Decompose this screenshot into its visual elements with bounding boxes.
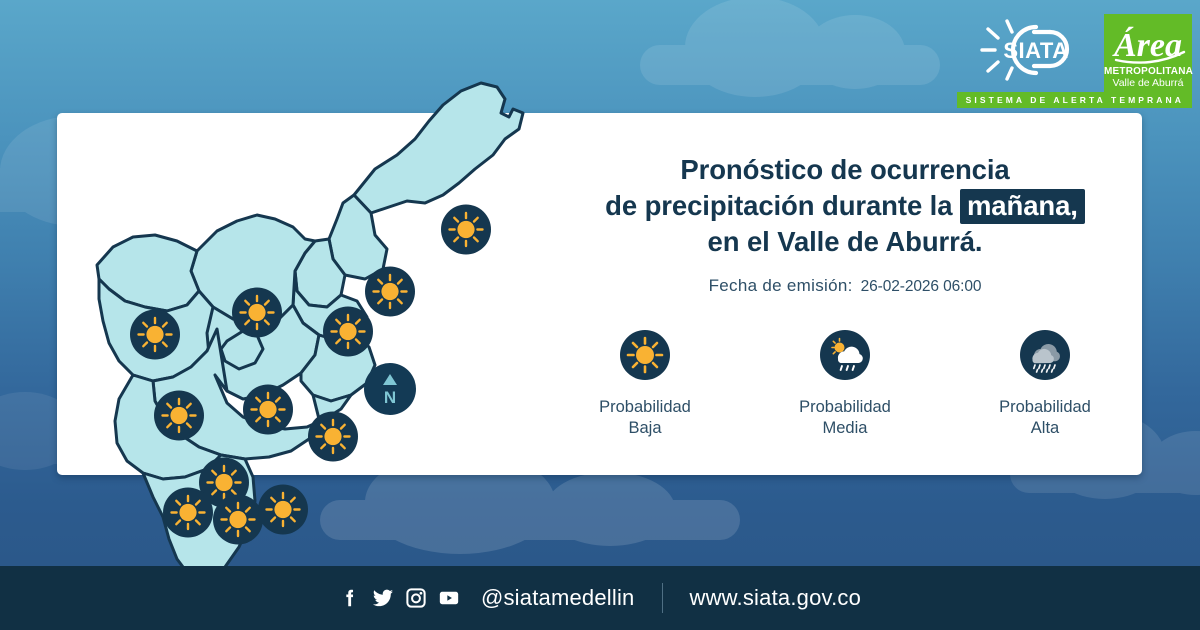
svg-text:N: N bbox=[384, 388, 396, 406]
emission-value: 26-02-2026 06:00 bbox=[861, 278, 982, 296]
legend-label-line1: Probabilidad bbox=[599, 398, 691, 416]
legend-label-line1: Probabilidad bbox=[799, 398, 891, 416]
footer-bar: @siatamedellin www.siata.gov.co bbox=[0, 566, 1200, 630]
sun-icon bbox=[130, 310, 180, 360]
map-marker-san-pedro bbox=[232, 288, 282, 343]
map-marker-envigado bbox=[258, 485, 308, 540]
sun-icon bbox=[154, 391, 204, 441]
sun-cloud-rain-icon bbox=[820, 330, 870, 380]
map-marker-la-estrella bbox=[163, 488, 213, 543]
title-line-2-text: de precipitación durante la bbox=[605, 190, 960, 221]
legend-label: Probabilidad Baja bbox=[563, 397, 728, 439]
instagram-icon[interactable] bbox=[405, 587, 427, 609]
map-marker-copacabana bbox=[323, 307, 373, 362]
infographic-canvas: SIATA Área METROPOLITANA Valle de Aburrá… bbox=[0, 0, 1200, 630]
title-line-3: en el Valle de Aburrá. bbox=[545, 224, 1145, 260]
youtube-icon[interactable] bbox=[437, 587, 461, 609]
sun-icon bbox=[308, 412, 358, 462]
sun-icon bbox=[620, 330, 670, 380]
period-highlight: mañana, bbox=[960, 189, 1085, 224]
map-marker-sabaneta bbox=[213, 495, 263, 550]
sun-icon bbox=[163, 488, 213, 538]
twitter-icon[interactable] bbox=[371, 587, 395, 609]
footer-divider bbox=[662, 583, 663, 613]
map-region: N bbox=[57, 113, 527, 575]
legend-item-media: Probabilidad Media bbox=[763, 330, 928, 439]
sun-icon bbox=[213, 495, 263, 545]
north-arrow-icon: N bbox=[375, 372, 405, 406]
map-marker-medellin-centro bbox=[308, 412, 358, 467]
svg-text:SIATA: SIATA bbox=[1003, 38, 1068, 63]
legend-item-alta: Probabilidad Alta bbox=[963, 330, 1128, 439]
sun-icon bbox=[258, 485, 308, 535]
area-sub-line2: Valle de Aburrá bbox=[1104, 78, 1192, 89]
map-marker-barbosa bbox=[441, 205, 491, 260]
area-wordmark-icon: Área bbox=[1104, 18, 1192, 68]
emission-label: Fecha de emisión: bbox=[709, 276, 853, 296]
siata-logo-icon: SIATA bbox=[976, 14, 1094, 86]
compass-rose: N bbox=[364, 363, 416, 415]
headline-panel: Pronóstico de ocurrencia de precipitació… bbox=[545, 152, 1145, 296]
logo-group: SIATA Área METROPOLITANA Valle de Aburrá bbox=[976, 14, 1192, 98]
page-title: Pronóstico de ocurrencia de precipitació… bbox=[545, 152, 1145, 259]
legend-icon-wrap bbox=[563, 330, 728, 385]
legend-label: Probabilidad Media bbox=[763, 397, 928, 439]
title-line-2: de precipitación durante la mañana, bbox=[545, 188, 1145, 224]
map-marker-san-jeronimo bbox=[154, 391, 204, 446]
legend-label-line2: Alta bbox=[1031, 419, 1059, 437]
legend-label-line2: Baja bbox=[628, 419, 661, 437]
title-line-1: Pronóstico de ocurrencia bbox=[545, 152, 1145, 188]
map-marker-medellin-norte bbox=[243, 385, 293, 440]
legend-label-line1: Probabilidad bbox=[999, 398, 1091, 416]
facebook-icon[interactable] bbox=[339, 587, 361, 609]
website-url[interactable]: www.siata.gov.co bbox=[690, 585, 862, 611]
legend-icon-wrap bbox=[763, 330, 928, 385]
decorative-cloud bbox=[640, 45, 940, 85]
social-handle[interactable]: @siatamedellin bbox=[481, 585, 635, 611]
area-sublabel: METROPOLITANA Valle de Aburrá bbox=[1104, 67, 1192, 89]
social-icons bbox=[339, 587, 461, 609]
sun-icon bbox=[243, 385, 293, 435]
area-metropolitana-logo: Área METROPOLITANA Valle de Aburrá bbox=[1104, 14, 1192, 98]
probability-legend: Probabilidad Baja Probabilidad Media bbox=[545, 330, 1145, 439]
map-marker-bello bbox=[130, 310, 180, 365]
legend-label: Probabilidad Alta bbox=[963, 397, 1128, 439]
emission-date: Fecha de emisión: 26-02-2026 06:00 bbox=[545, 276, 1145, 296]
sun-icon bbox=[323, 307, 373, 357]
legend-item-baja: Probabilidad Baja bbox=[563, 330, 728, 439]
sun-icon bbox=[441, 205, 491, 255]
sun-icon bbox=[232, 288, 282, 338]
legend-icon-wrap bbox=[963, 330, 1128, 385]
tagline-banner: SISTEMA DE ALERTA TEMPRANA bbox=[957, 92, 1192, 108]
cloud-heavy-rain-icon bbox=[1020, 330, 1070, 380]
legend-label-line2: Media bbox=[823, 419, 868, 437]
